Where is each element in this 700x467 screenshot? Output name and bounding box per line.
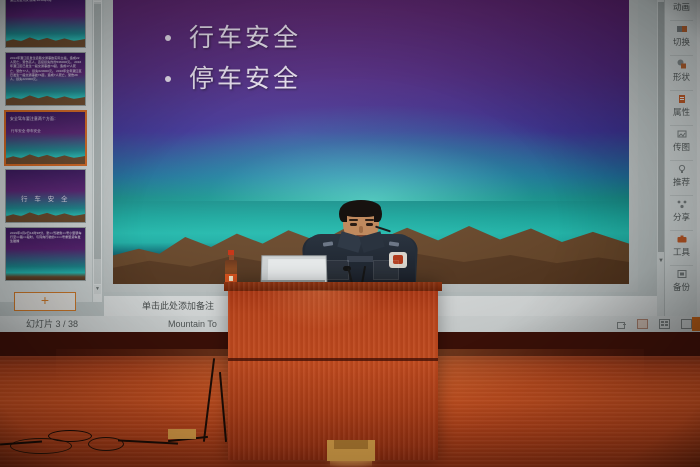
backup-icon bbox=[677, 269, 687, 279]
slide-thumbnail-1[interactable]: 潿江交警大队 原晴 2019年4月 bbox=[5, 0, 86, 48]
rail-item-label: 形状 bbox=[673, 72, 690, 82]
mountain-silhouette bbox=[6, 209, 85, 222]
speaker-podium bbox=[228, 282, 438, 460]
rail-item-animation[interactable]: 动画 bbox=[665, 0, 698, 20]
mountain-silhouette bbox=[6, 34, 85, 47]
properties-icon bbox=[677, 94, 687, 104]
auditorium-scene: 潿江交警大队 原晴 2019年4月 2014年潿江区发生道路交通事故实际立案，造… bbox=[0, 0, 700, 467]
slide-sorter-icon[interactable] bbox=[659, 319, 670, 329]
rail-item-shape[interactable]: 形状 bbox=[665, 56, 698, 90]
thumbnail-text: 2014年潿江区发生道路交通事故实际立案，造成22人死亡，受伤高人，直接损失约约… bbox=[10, 56, 82, 81]
rail-item-label: 备份 bbox=[673, 282, 690, 292]
eye-left bbox=[350, 223, 357, 226]
scroll-up-arrow-icon[interactable]: ▲ bbox=[94, 0, 101, 1]
view-mode-buttons[interactable] bbox=[617, 316, 692, 332]
slide-bullet-item: 行车安全 bbox=[163, 18, 301, 59]
scrollbar-thumb[interactable] bbox=[94, 4, 101, 259]
fit-page-icon[interactable] bbox=[617, 320, 626, 328]
thumbnail-bullets: 行车安全 停车安全 bbox=[11, 128, 41, 134]
eye-right bbox=[366, 223, 373, 226]
transition-icon bbox=[677, 24, 687, 34]
rail-item-backup[interactable]: 备份 bbox=[665, 266, 698, 300]
shape-icon bbox=[677, 59, 687, 69]
slide-thumbnail-2[interactable]: 2014年潿江区发生道路交通事故实际立案，造成22人死亡，受伤高人，直接损失约约… bbox=[5, 52, 86, 106]
gold-object-reflection bbox=[330, 461, 372, 467]
slide-bullet-item: 停车安全 bbox=[163, 59, 301, 100]
rail-item-transition[interactable]: 切换 bbox=[665, 21, 698, 55]
reading-view-icon[interactable] bbox=[681, 319, 692, 329]
slide-thumbnail-4[interactable]: 行 车 安 全 bbox=[5, 169, 86, 223]
nose bbox=[359, 226, 363, 233]
rail-item-label: 传图 bbox=[673, 142, 690, 152]
rail-item-label: 推荐 bbox=[673, 177, 690, 187]
floor-cable bbox=[48, 430, 92, 442]
slide-thumbnail-3[interactable]: 安全驾车要注意两个方面： 行车安全 停车安全 bbox=[4, 110, 87, 166]
rail-item-label: 工具 bbox=[673, 247, 690, 257]
slide-counter: 幻灯片 3 / 38 bbox=[26, 316, 78, 332]
hair-side-right bbox=[374, 206, 382, 222]
share-icon bbox=[677, 199, 687, 209]
rail-item-upload-image[interactable]: 传图 bbox=[665, 126, 698, 160]
slide-bullet-list: 行车安全 停车安全 bbox=[163, 18, 301, 100]
thumbnail-text: 潿江交警大队 原晴 2019年4月 bbox=[10, 0, 82, 2]
scroll-down-arrow-icon[interactable]: ▼ bbox=[94, 285, 101, 294]
slideshow-button[interactable] bbox=[692, 317, 700, 331]
rail-item-properties[interactable]: 属性 bbox=[665, 91, 698, 125]
slide-thumbnail-rail[interactable]: 潿江交警大队 原晴 2019年4月 2014年潿江区发生道路交通事故实际立案，造… bbox=[0, 0, 92, 302]
uniform-pocket-right bbox=[373, 260, 399, 280]
horizon-glow bbox=[113, 106, 629, 201]
thumbnail-scrollbar[interactable]: ▲ ▼ bbox=[93, 0, 102, 302]
rail-item-label: 切换 bbox=[673, 37, 690, 47]
podium-seam bbox=[228, 358, 438, 361]
rail-item-label: 分享 bbox=[673, 212, 690, 222]
rail-item-tools[interactable]: 工具 bbox=[665, 231, 698, 265]
thumbnail-title: 安全驾车要注意两个方面： bbox=[10, 117, 58, 122]
podium-highlight bbox=[257, 290, 383, 330]
eyebrow-right bbox=[365, 219, 374, 221]
slide-thumbnail-5[interactable]: 2019年4月2日14时38分，张××驾驶鲁××号小型轿车行至××路××段时，与… bbox=[5, 227, 86, 281]
normal-view-icon[interactable] bbox=[637, 319, 648, 329]
hair-side-left bbox=[339, 206, 347, 222]
rail-item-recommend[interactable]: 推荐 bbox=[665, 161, 698, 195]
mountain-silhouette bbox=[6, 92, 85, 105]
rail-item-label: 动画 bbox=[673, 2, 690, 12]
thumbnail-text: 2019年4月2日14时38分，张××驾驶鲁××号小型轿车行至××路××段时，与… bbox=[10, 231, 82, 244]
thumbnail-text: 行 车 安 全 bbox=[6, 193, 85, 203]
theme-name: Mountain To bbox=[168, 316, 217, 332]
gold-floor-object bbox=[327, 440, 375, 461]
rail-item-share[interactable]: 分享 bbox=[665, 196, 698, 230]
tools-icon bbox=[677, 234, 687, 244]
name-tag bbox=[347, 256, 373, 262]
add-slide-button[interactable]: + bbox=[14, 292, 76, 311]
eyebrow-left bbox=[349, 219, 358, 221]
mountain-silhouette bbox=[6, 151, 85, 164]
recommend-icon bbox=[677, 164, 687, 174]
rail-item-label: 属性 bbox=[673, 107, 690, 117]
upload-image-icon bbox=[677, 129, 687, 139]
floor-object bbox=[168, 429, 196, 439]
right-command-rail[interactable]: 动画 切换 形状 属性 bbox=[664, 0, 698, 316]
